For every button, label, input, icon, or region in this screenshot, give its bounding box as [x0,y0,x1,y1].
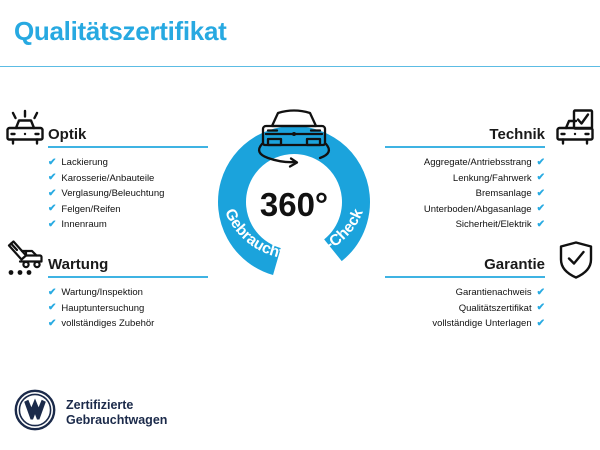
list-item: ✔ Karosserie/Anbauteile [48,171,208,187]
check-icon: ✔ [537,220,545,230]
footer-brand-lockup: Zertifizierte Gebrauchtwagen [14,389,167,436]
check-icon: ✔ [48,189,56,199]
shield-check-icon [558,240,594,280]
section-list-optik: ✔ Lackierung ✔ Karosserie/Anbauteile ✔ V… [48,155,208,233]
check-icon: ✔ [537,319,545,329]
page-title: Qualitätszertifikat [14,16,226,47]
volkswagen-logo-icon [14,389,56,436]
check-icon: ✔ [537,303,545,313]
list-item-label: Verglasung/Beleuchtung [61,186,164,202]
section-garantie: Garantie Garantienachweis ✔ Qualitätszer… [385,256,545,332]
list-item-label: Hauptuntersuchung [61,301,144,317]
list-item-label: Bremsanlage [476,186,532,202]
list-item-label: Unterboden/Abgasanlage [424,202,532,218]
section-optik: Optik ✔ Lackierung ✔ Karosserie/Anbautei… [48,126,208,233]
list-item-label: Sicherheit/Elektrik [456,217,532,233]
section-list-technik: Aggregate/Antriebsstrang ✔ Lenkung/Fahrw… [385,155,545,233]
check-icon: ✔ [537,204,545,214]
list-item: Aggregate/Antriebsstrang ✔ [385,155,545,171]
list-item: Bremsanlage ✔ [385,186,545,202]
check-icon: ✔ [48,173,56,183]
list-item-label: Garantienachweis [456,285,532,301]
list-item-label: Aggregate/Antriebsstrang [424,155,532,171]
list-item-label: Qualitätszertifikat [459,301,532,317]
list-item: ✔ Lackierung [48,155,208,171]
list-item: ✔ Hauptuntersuchung [48,301,208,317]
check-icon: ✔ [48,303,56,313]
footer-line-2: Gebrauchtwagen [66,413,167,427]
section-technik: Technik Aggregate/Antriebsstrang ✔ Lenku… [385,126,545,233]
section-title-garantie: Garantie [385,256,545,273]
check-icon: ✔ [48,319,56,329]
check-icon: ✔ [48,288,56,298]
list-item-label: Lenkung/Fahrwerk [453,171,532,187]
list-item: Lenkung/Fahrwerk ✔ [385,171,545,187]
check-icon: ✔ [48,220,56,230]
check-icon: ✔ [537,189,545,199]
list-item-label: Wartung/Inspektion [61,285,143,301]
list-item-label: Felgen/Reifen [61,202,120,218]
footer-brand-text: Zertifizierte Gebrauchtwagen [66,398,167,428]
list-item: vollständige Unterlagen ✔ [385,316,545,332]
list-item: ✔ Felgen/Reifen [48,202,208,218]
list-item-label: Lackierung [61,155,107,171]
section-title-wartung: Wartung [48,256,208,273]
list-item: Sicherheit/Elektrik ✔ [385,217,545,233]
badge-value: 360° [260,186,328,223]
list-item-label: Innenraum [61,217,106,233]
list-item-label: vollständige Unterlagen [432,316,531,332]
check-icon: ✔ [537,173,545,183]
list-item-label: Karosserie/Anbauteile [61,171,154,187]
section-divider-garantie [385,276,545,278]
list-item-label: vollständiges Zubehör [61,316,154,332]
qualitaetszertifikat-page: Qualitätszertifikat Optik ✔ [0,0,600,450]
check-icon: ✔ [537,158,545,168]
section-title-technik: Technik [385,126,545,143]
section-divider-optik [48,146,208,148]
list-item: Garantienachweis ✔ [385,285,545,301]
list-item: ✔ vollständiges Zubehör [48,316,208,332]
section-list-garantie: Garantienachweis ✔ Qualitätszertifikat ✔… [385,285,545,332]
check-icon: ✔ [48,158,56,168]
header-divider [0,66,600,67]
car-wrench-service-icon [4,238,46,280]
list-item: ✔ Verglasung/Beleuchtung [48,186,208,202]
check-icon: ✔ [537,288,545,298]
car-shine-icon [4,108,46,150]
list-item: ✔ Innenraum [48,217,208,233]
section-title-optik: Optik [48,126,208,143]
check-icon: ✔ [48,204,56,214]
badge-360-gebrauchtwagen-check: 360° Gebrauchtwagen-Check [196,98,392,294]
section-wartung: Wartung ✔ Wartung/Inspektion ✔ Hauptunte… [48,256,208,332]
list-item: Unterboden/Abgasanlage ✔ [385,202,545,218]
list-item: Qualitätszertifikat ✔ [385,301,545,317]
list-item: ✔ Wartung/Inspektion [48,285,208,301]
section-divider-wartung [48,276,208,278]
section-divider-technik [385,146,545,148]
section-list-wartung: ✔ Wartung/Inspektion ✔ Hauptuntersuchung… [48,285,208,332]
footer-line-1: Zertifizierte [66,398,133,412]
car-checkbox-icon [554,108,596,150]
